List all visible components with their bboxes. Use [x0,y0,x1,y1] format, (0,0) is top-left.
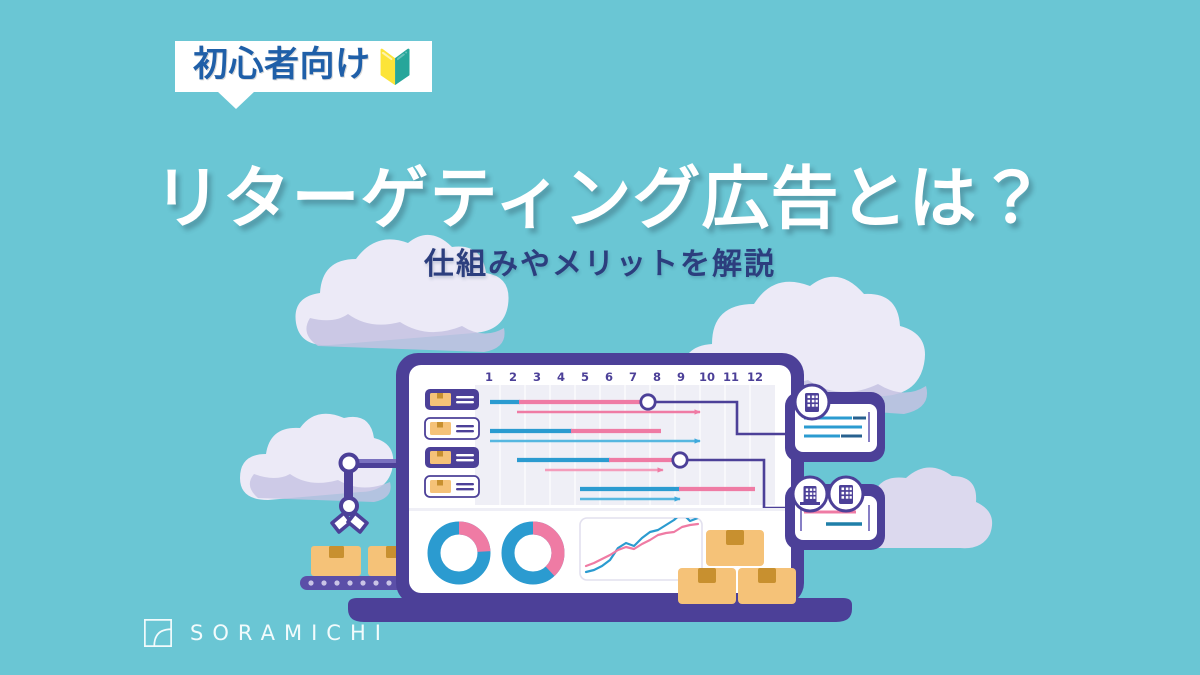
screen-divider [409,508,791,511]
svg-text:11: 11 [723,370,739,384]
beginner-badge-label: 初心者向け [193,48,371,83]
brand-logo: SORAMICHI [143,618,390,648]
gantt-node-3 [673,453,687,467]
svg-text:3: 3 [533,370,541,384]
svg-text:12: 12 [747,370,763,384]
svg-text:2: 2 [509,370,517,384]
beginner-mark-icon: 🔰 [375,50,416,83]
soramichi-square-mark [143,618,173,648]
gantt-row-label-4 [425,476,479,497]
gantt-node-1 [641,395,655,409]
side-card-top [785,385,885,462]
logistics-dashboard-illustration: 1 2 3 4 5 6 7 8 9 10 11 12 [0,0,1200,675]
svg-text:7: 7 [629,370,637,384]
beginner-badge-body: 初心者向け 🔰 [175,41,432,92]
box-conveyor-1 [311,546,361,576]
building-icon-1 [795,385,829,419]
gantt-row-label-1 [425,389,479,410]
cloud-left-lower [240,414,393,502]
svg-text:6: 6 [605,370,613,384]
building-icon-2 [793,477,827,511]
page-title: リターゲティング広告とは？ [0,162,1200,238]
svg-text:10: 10 [699,370,715,384]
brand-logo-text: SORAMICHI [190,621,390,645]
svg-text:8: 8 [653,370,661,384]
beginner-badge-tail [217,91,255,109]
svg-text:4: 4 [557,370,565,384]
beginner-badge: 初心者向け 🔰 [175,41,432,92]
building-icon-3 [829,477,863,511]
box-stack-left [678,568,736,604]
gantt-row-label-3 [425,447,479,468]
svg-text:9: 9 [677,370,685,384]
svg-text:1: 1 [485,370,493,384]
box-stack-right [738,568,796,604]
gantt-row-label-2 [425,418,479,439]
box-stack-top [706,530,764,566]
poster-canvas: 1 2 3 4 5 6 7 8 9 10 11 12 [0,0,1200,675]
svg-text:5: 5 [581,370,589,384]
side-card-bottom [785,477,885,550]
page-subtitle: 仕組みやメリットを解説 [0,239,1200,283]
